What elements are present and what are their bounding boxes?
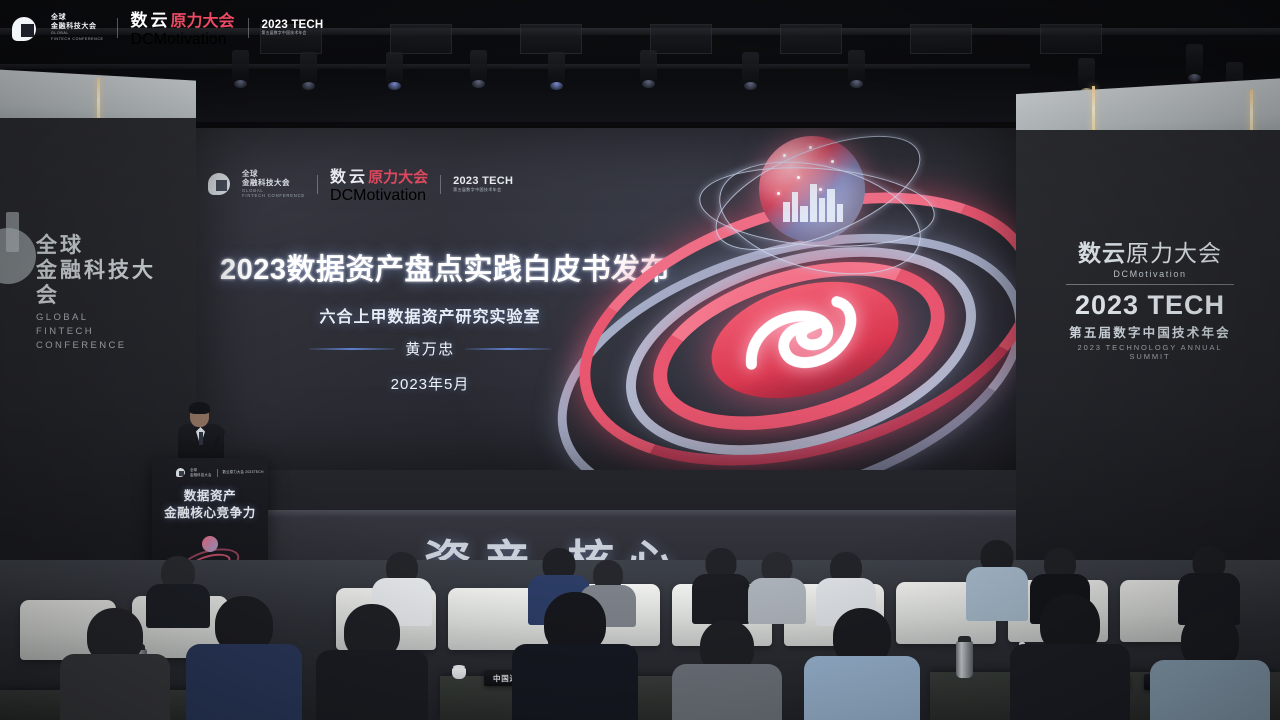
screen-tech-badge: 2023 TECH 第五届数字中国技术年会 [453, 175, 513, 193]
overlay-dc-sub: DCMotivation [131, 31, 235, 49]
podium-logo-row: 全球金融科技大会 数云原力大会 2023TECH [176, 468, 264, 477]
podium-logo-text: 数云原力大会 2023TECH [223, 470, 264, 474]
podium-headline-line2: 金融核心竞争力 [152, 505, 268, 522]
truss-segment [1040, 24, 1102, 54]
overlay-dc-logo: 数 云 原力大会 DCMotivation [131, 6, 235, 49]
stage-light [1186, 44, 1203, 78]
screen-tech-year: 2023 TECH [453, 175, 513, 187]
stage-light [742, 52, 759, 86]
left-wall-cn-line2: 金融科技大会 [36, 259, 176, 309]
screen-dc-part1: 数 [330, 163, 346, 187]
stage-light [548, 52, 565, 86]
audience-member [1150, 612, 1270, 720]
truss-segment [650, 24, 712, 54]
audience-member [186, 596, 302, 720]
stage-light [640, 50, 657, 84]
right-wall-title-b: 原力大会 [1126, 240, 1222, 266]
overlay-dc-part3: 原力大会 [171, 7, 235, 31]
overlay-tech-sub: 第五届数字中国技术年会 [262, 31, 324, 36]
slide-3d-graphic [591, 138, 1016, 468]
audience-member [1010, 594, 1130, 720]
left-wall-branding: 全球 金融科技大会 GLOBAL FINTECH CONFERENCE [36, 234, 176, 353]
podium-logo-sub: 全球金融科技大会 [190, 468, 212, 477]
stage-light [848, 50, 865, 84]
overlay-tech-badge: 2023 TECH 第五届数字中国技术年会 [262, 19, 324, 36]
audience-member [748, 552, 806, 622]
thermos-flask [956, 640, 973, 678]
overlay-fintech-text: 全球 金融科技大会 GLOBAL FINTECH CONFERENCE [51, 13, 104, 42]
audience-member [60, 608, 170, 720]
podium-headline-line1: 数据资产 [152, 488, 268, 505]
truss-segment [780, 24, 842, 54]
screen-fintech-cn1: 全球 [242, 169, 305, 178]
right-wall-subtitle: DCMotivation [1060, 269, 1240, 279]
screen-fintech-text: 全球 金融科技大会 GLOBAL FINTECH CONFERENCE [242, 169, 305, 200]
logo-divider [440, 175, 441, 194]
audience-member [512, 592, 638, 720]
screen-dc-part2: 云 [349, 163, 365, 187]
audience-member [804, 608, 920, 720]
slide-subtitle: 六合上甲数据资产研究实验室 [220, 303, 640, 327]
fintech-logo-icon [208, 173, 230, 195]
overlay-divider [248, 18, 249, 38]
stage-light [386, 52, 403, 86]
right-wall-divider [1066, 284, 1234, 285]
overlay-fintech-cn2: 金融科技大会 [51, 22, 104, 31]
right-wall-title: 数云原力大会 [1060, 234, 1240, 268]
audience-member [316, 604, 428, 720]
left-wall-en-line1: GLOBAL [36, 311, 176, 325]
overlay-divider [117, 18, 118, 38]
slide-presenter-row: 黄万忠 [220, 338, 640, 359]
screen-logo-bar: 全球 金融科技大会 GLOBAL FINTECH CONFERENCE 数 云 … [208, 163, 513, 205]
right-wall-cn-summit: 第五届数字中国技术年会 [1060, 322, 1240, 341]
audience-member [1178, 546, 1240, 622]
left-wall-cn-line1: 全球 [36, 234, 176, 259]
screen-fintech-en2: FINTECH CONFERENCE [242, 193, 305, 199]
audience-member [692, 548, 750, 622]
screen-dc-sub: DCMotivation [330, 187, 428, 205]
screen-fintech-cn2: 金融科技大会 [242, 178, 305, 187]
screen-dc-logo: 数 云 原力大会 DCMotivation [330, 163, 428, 205]
truss-segment [910, 24, 972, 54]
overlay-tech-year: 2023 TECH [262, 19, 324, 31]
presenter-rule-left [309, 348, 395, 350]
overlay-fintech-cn1: 全球 [51, 13, 104, 22]
ceiling-truss-beam [0, 64, 1030, 69]
stage-light [470, 50, 487, 84]
audience-member [672, 620, 782, 720]
logo-divider [317, 175, 318, 194]
slide-title: 2023数据资产盘点实践白皮书发布 [220, 246, 640, 288]
truss-segment [390, 24, 452, 54]
right-wall-branding: 数云原力大会 DCMotivation 2023 TECH 第五届数字中国技术年… [1060, 234, 1240, 361]
stage-light [300, 52, 317, 86]
right-wall-en-summit: 2023 TECHNOLOGY ANNUAL SUMMIT [1060, 343, 1240, 361]
fintech-logo-icon [12, 15, 38, 41]
slide-presenter: 黄万忠 [405, 338, 455, 359]
truss-segment [520, 24, 582, 54]
main-led-screen: 全球 金融科技大会 GLOBAL FINTECH CONFERENCE 数 云 … [196, 128, 1016, 470]
overlay-dc-part1: 数 [131, 6, 148, 31]
conference-stage-scene: 全球 金融科技大会 GLOBAL FINTECH CONFERENCE 数云原力… [0, 0, 1280, 720]
podium-headline: 数据资产 金融核心竞争力 [152, 488, 268, 522]
right-wall-year-tech: 2023 TECH [1060, 290, 1240, 321]
stage-light [232, 50, 249, 84]
screen-dc-part3: 原力大会 [368, 166, 428, 187]
broadcast-logo-overlay: 全球 金融科技大会 GLOBAL FINTECH CONFERENCE 数 云 … [12, 6, 323, 49]
teacup [452, 668, 466, 679]
presenter-rule-right [465, 348, 551, 350]
right-wall-title-a: 数云 [1078, 240, 1126, 266]
overlay-fintech-en2: FINTECH CONFERENCE [51, 37, 104, 42]
screen-tech-sub: 第五届数字中国技术年会 [453, 187, 513, 193]
overlay-dc-part2: 云 [151, 6, 168, 31]
left-wall-en-line2: FINTECH CONFERENCE [36, 325, 176, 353]
